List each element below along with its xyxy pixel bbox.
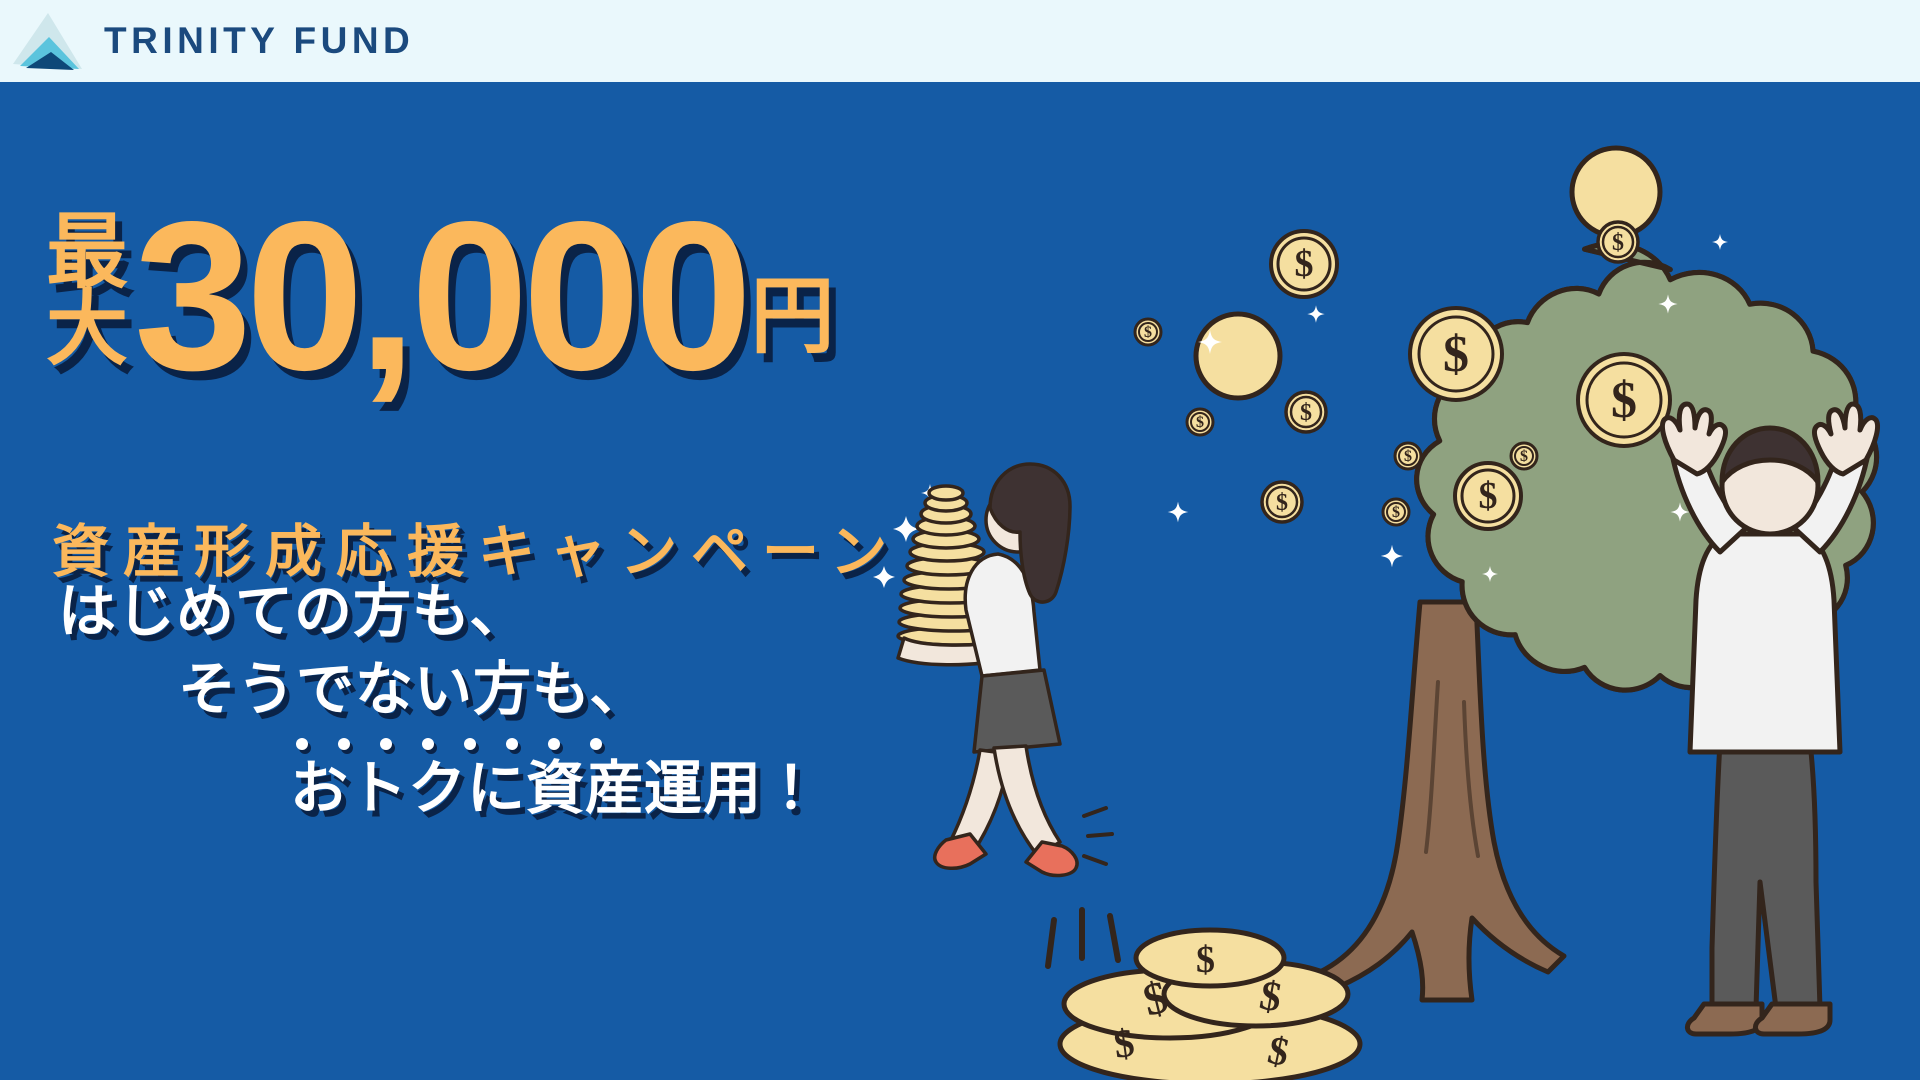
- svg-text:$: $: [1264, 1027, 1293, 1075]
- tree-coin: [1598, 222, 1638, 262]
- emphasis-dot: [590, 738, 602, 750]
- emphasis-dot: [338, 738, 350, 750]
- emphasis-dot: [464, 738, 476, 750]
- tree-coin: [1383, 499, 1409, 525]
- emphasis-dots: [296, 731, 1100, 757]
- tree-coin: [1286, 392, 1326, 432]
- emphasis-dot: [548, 738, 560, 750]
- max-prefix-char-1: 最: [46, 214, 128, 291]
- emphasis-dot: [380, 738, 392, 750]
- copy-line-1: はじめての方も、: [58, 582, 1100, 642]
- currency-unit: 円: [750, 274, 834, 358]
- svg-text:$: $: [1196, 939, 1215, 981]
- site-header: TRINITY FUND: [0, 0, 1920, 82]
- money-tree: [1135, 148, 1877, 1000]
- amount-value: 30,000: [134, 190, 746, 402]
- tree-coin: [1410, 308, 1502, 400]
- campaign-title: 資産形成応援キャンペーン: [52, 506, 901, 588]
- hero-text-block: 最 大 30,000 円 資産形成応援キャンペーン はじめての方も、 そうでない…: [0, 82, 1180, 1080]
- tree-coin: [1262, 482, 1302, 522]
- sparkle: [1658, 294, 1677, 313]
- sparkle: [1482, 566, 1498, 582]
- campaign-banner: TRINITY FUND $ $: [0, 0, 1920, 1080]
- copy-line-2: そうでない方も、: [178, 660, 1100, 720]
- tree-coin: [1578, 354, 1670, 446]
- tree-coin: [1511, 443, 1537, 469]
- tree-coin: [1187, 409, 1213, 435]
- max-prefix-char-2: 大: [46, 291, 128, 368]
- sparkle: [1307, 305, 1325, 323]
- copy-line-3: おトクに資産運用！: [290, 759, 1100, 819]
- brand-name: TRINITY FUND: [104, 20, 414, 62]
- svg-text:$: $: [1256, 973, 1285, 1022]
- emphasis-dot: [506, 738, 518, 750]
- emphasis-dot: [422, 738, 434, 750]
- man-reaching-for-coins: [1662, 404, 1877, 1034]
- body-copy: はじめての方も、 そうでない方も、 おトクに資産運用！: [0, 582, 1100, 819]
- tree-coin: [1271, 231, 1337, 297]
- tree-coin: [1455, 463, 1521, 529]
- max-prefix: 最 大: [46, 214, 128, 368]
- tree-coin: [1395, 443, 1421, 469]
- sparkle: [1670, 502, 1689, 521]
- trinity-mountain-logo-icon[interactable]: [8, 6, 86, 76]
- sparkle: [1381, 545, 1403, 567]
- emphasis-dot: [296, 738, 308, 750]
- headline-row: 最 大 30,000 円: [46, 190, 834, 384]
- sparkle: [1712, 234, 1728, 250]
- sparkle: [1198, 330, 1222, 354]
